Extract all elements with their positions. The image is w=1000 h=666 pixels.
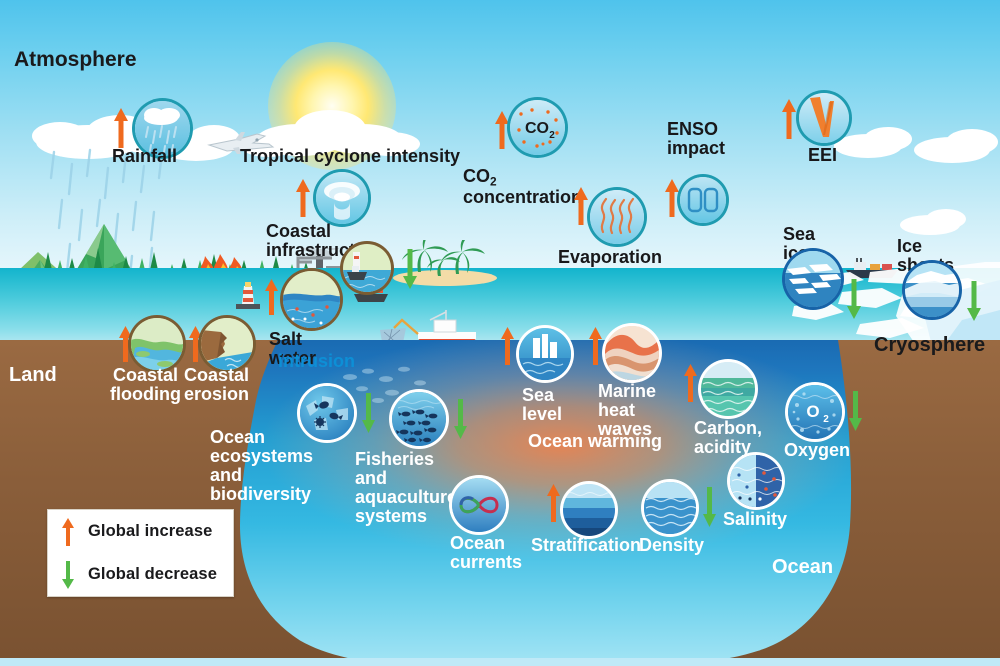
decrease-arrow-ice-sheets: [966, 280, 982, 322]
zone-label-atmosphere: Atmosphere: [14, 48, 137, 72]
label-tropical-cyclone-intensity[interactable]: Tropical cyclone intensity: [240, 147, 460, 166]
label-density: Density: [639, 536, 704, 555]
svg-text:2: 2: [549, 130, 555, 141]
legend-row-increase: Global increase: [48, 510, 233, 553]
fish-school-icon: [392, 392, 446, 446]
svg-text:O: O: [806, 402, 819, 421]
decrease-arrow-sea-ice: [846, 278, 862, 320]
increase-arrow-evaporation: [573, 186, 589, 226]
zone-label-ocean: Ocean: [772, 556, 833, 579]
label-sea-level: Sea level: [522, 386, 562, 424]
label-salt-water-intrusion-line2: intrusion: [278, 352, 355, 371]
zone-label-cryosphere: Cryosphere: [874, 334, 985, 357]
enso-icon: [680, 177, 726, 223]
legend: Global increase Global decrease: [47, 509, 234, 597]
increase-arrow-marine-heat-waves: [588, 326, 603, 366]
salinity-icon: [730, 455, 782, 507]
decrease-arrow-density: [702, 486, 717, 528]
infographic-canvas: Atmosphere Land Cryosphere Ocean Rainfal…: [0, 0, 1000, 666]
svg-text:2: 2: [823, 414, 829, 425]
increase-arrow-stratification: [546, 483, 561, 523]
label-oxygen: Oxygen: [784, 441, 850, 460]
oxygen-icon: O 2: [788, 385, 842, 439]
density-icon: [644, 482, 696, 534]
label-ocean-ecosystems: Ocean ecosystems and biodiversity: [210, 428, 313, 504]
stratification-icon: [563, 484, 615, 536]
increase-arrow-salt-water-intrusion: [264, 278, 279, 316]
energy-imbalance-icon: [799, 93, 849, 143]
label-enso-impact: ENSO impact: [667, 120, 725, 158]
erosion-icon: [201, 318, 253, 370]
label-co2-rest: concentration: [463, 187, 582, 207]
zone-label-land: Land: [9, 364, 57, 387]
label-coastal-flooding: Coastal flooding: [110, 366, 181, 404]
increase-arrow-icon: [61, 517, 75, 547]
label-stratification: Stratification: [531, 536, 641, 555]
label-evaporation: Evaporation: [558, 248, 662, 267]
increase-arrow-rainfall: [113, 107, 129, 149]
label-eei: EEI: [808, 146, 837, 165]
co2-icon: CO 2: [510, 100, 565, 155]
svg-text:CO: CO: [525, 120, 549, 137]
acidity-icon: [701, 362, 755, 416]
currents-icon: [452, 478, 506, 532]
decrease-arrow-ocean-ecosystems: [361, 392, 376, 434]
increase-arrow-sea-level: [500, 326, 515, 366]
evaporation-icon: [590, 190, 644, 244]
increase-arrow-carbon-acidity: [683, 363, 698, 403]
label-coastal-erosion: Coastal erosion: [184, 366, 249, 404]
increase-arrow-cyclone: [295, 178, 311, 218]
sea-ice-icon: [785, 251, 841, 307]
label-rainfall: Rainfall: [112, 147, 177, 166]
legend-label-decrease: Global decrease: [88, 565, 217, 584]
decrease-arrow-coastal-infrastructure: [402, 248, 418, 290]
increase-arrow-enso: [664, 178, 680, 218]
increase-arrow-co2: [494, 110, 510, 150]
label-ocean-currents: Ocean currents: [450, 534, 522, 572]
salt-intrusion-icon: [283, 271, 340, 328]
label-carbon-acidity: Carbon, acidity: [694, 419, 762, 457]
increase-arrow-eei: [781, 98, 797, 140]
label-fisheries: Fisheries and aquaculture systems: [355, 450, 457, 526]
label-co2-concentration: CO2 concentration: [463, 148, 582, 207]
label-co2-main: CO: [463, 166, 490, 186]
sea-level-icon: [519, 328, 571, 380]
lighthouse-icon: [232, 280, 266, 312]
ice-sheet-icon: [905, 263, 959, 317]
flooding-icon: [131, 318, 183, 370]
decrease-arrow-oxygen: [848, 390, 863, 432]
cyclone-icon: [316, 172, 368, 224]
decrease-arrow-fisheries: [453, 398, 468, 440]
legend-row-decrease: Global decrease: [48, 553, 233, 596]
label-ocean-warming[interactable]: Ocean warming: [528, 432, 662, 451]
label-salinity: Salinity: [723, 510, 787, 529]
legend-label-increase: Global increase: [88, 522, 212, 541]
harbour-icon[interactable]: [343, 244, 391, 292]
heat-wave-icon: [605, 326, 659, 380]
decrease-arrow-icon: [61, 560, 75, 590]
